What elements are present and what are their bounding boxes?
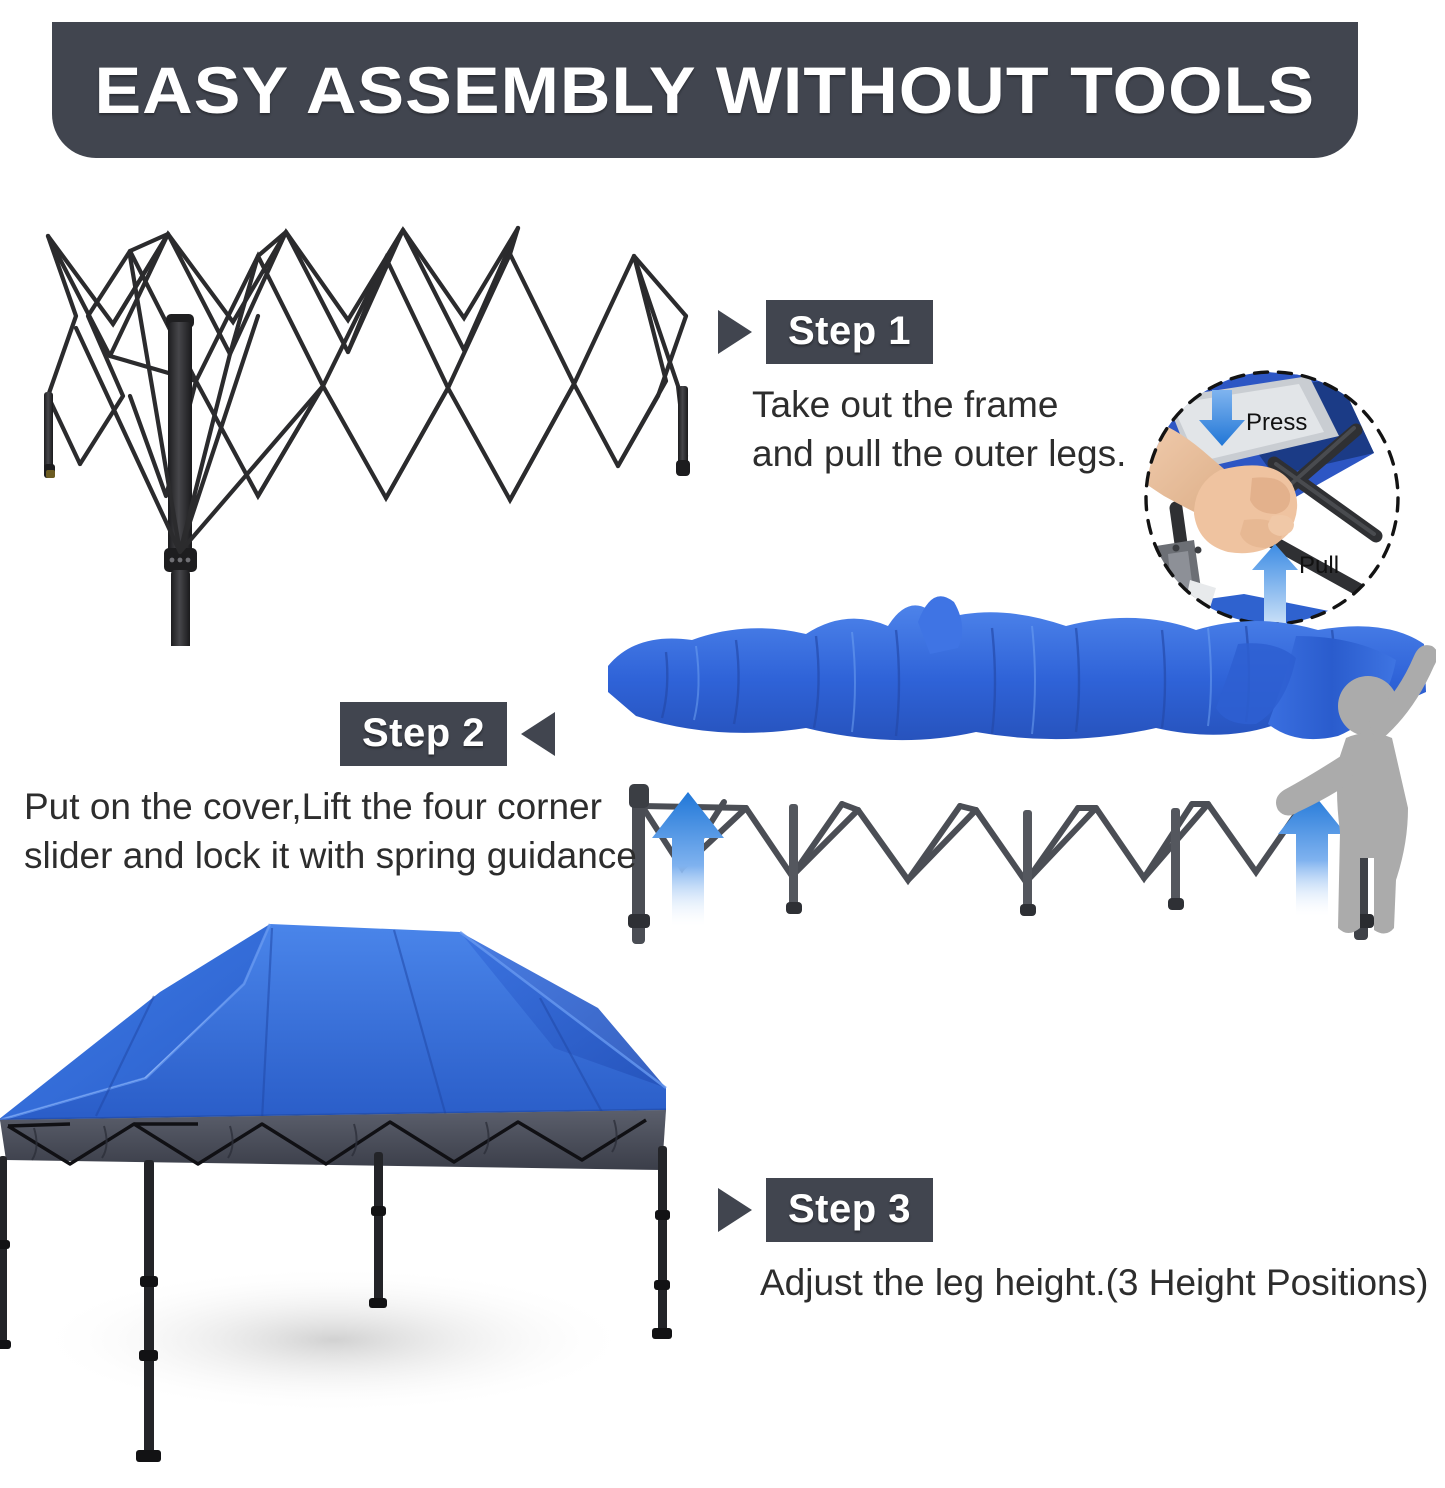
header-banner: EASY ASSEMBLY WITHOUT TOOLS [52,22,1358,158]
step2-lift-arrows [652,792,1346,926]
draped-blue-cover [608,596,1426,740]
infographic-page: EASY ASSEMBLY WITHOUT TOOLS [0,0,1445,1488]
step2-description: Put on the cover,Lift the four corner sl… [24,782,637,880]
triangle-right-icon [718,310,752,354]
step3-badge: Step 3 [718,1178,933,1242]
triangle-left-icon [521,712,555,756]
step2-badge: Step 2 [340,702,555,766]
step3-assembled-canopy [0,888,724,1488]
canopy-roof [0,924,666,1120]
step3-description: Adjust the leg height.(3 Height Position… [760,1258,1428,1307]
pull-label: Pull [1299,552,1339,579]
step2-label: Step 2 [340,702,507,766]
press-label: Press [1246,409,1307,436]
step1-frame-illustration [18,196,718,646]
canopy-valance [0,1110,666,1170]
step1-label: Step 1 [766,300,933,364]
ground-shadow [34,1266,634,1414]
triangle-right-icon [718,1188,752,1232]
step3-label: Step 3 [766,1178,933,1242]
step1-description: Take out the frame and pull the outer le… [752,380,1126,478]
page-title: EASY ASSEMBLY WITHOUT TOOLS [95,52,1316,128]
step1-badge: Step 1 [718,300,933,364]
